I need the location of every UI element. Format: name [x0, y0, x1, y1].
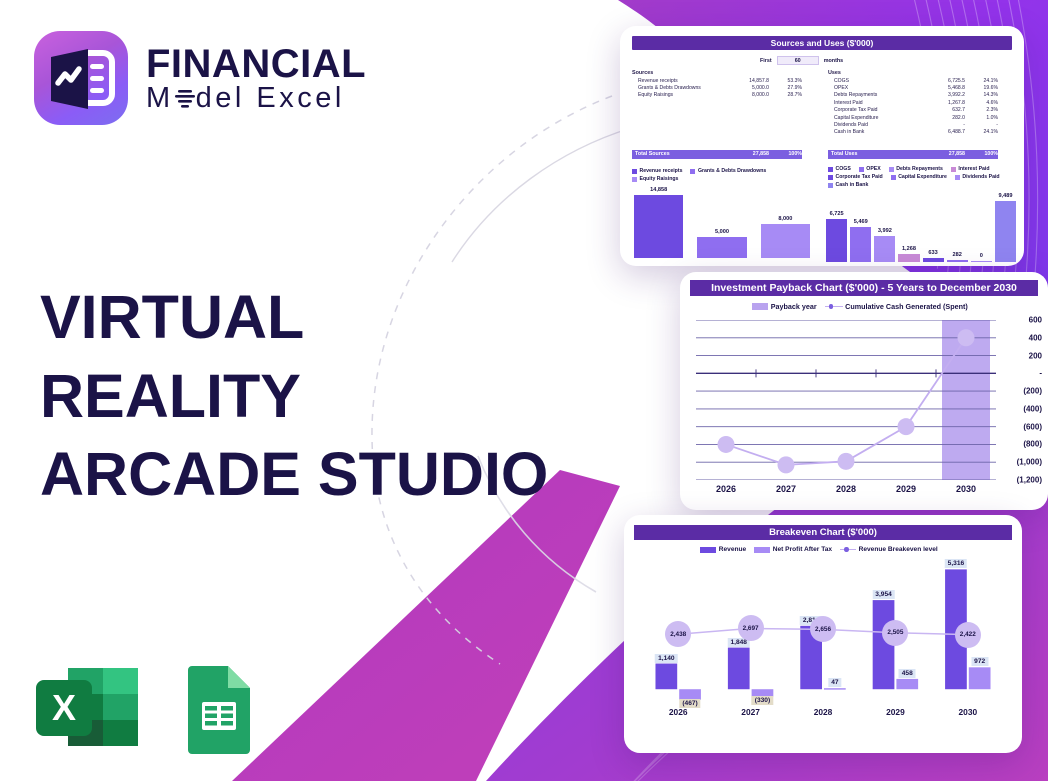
uses-row: Dividends Paid-- [828, 122, 998, 129]
data-point [898, 418, 915, 435]
legend-swatch [752, 303, 768, 310]
financial-model-logo-icon [34, 31, 128, 125]
uses-chart-value-label: 0 [980, 253, 983, 259]
x-axis-tick-label: 2026 [642, 707, 714, 717]
y-axis-tick-label: (400) [1023, 404, 1042, 413]
breakeven-x-axis-labels: 20262027202820292030 [642, 707, 1004, 717]
uses-chart-value-label: 3,992 [878, 228, 892, 234]
legend-net-profit: Net Profit After Tax [754, 546, 832, 553]
uses-row: OPEX5,468.819.6% [828, 85, 998, 92]
period-months-input[interactable]: 60 [777, 56, 819, 65]
uses-row: Interest Paid1,267.84.6% [828, 100, 998, 107]
legend-label: Corporate Tax Paid [836, 174, 883, 180]
sources-table: Sources Revenue receipts14,857.853.3%Gra… [632, 70, 802, 100]
uses-row-value: 282.0 [923, 115, 965, 122]
breakeven-legend: Revenue Net Profit After Tax Revenue Bre… [624, 546, 1022, 555]
uses-row: Cash in Bank6,488.724.1% [828, 129, 998, 136]
uses-chart-column: 9,489 [995, 184, 1016, 262]
legend-swatch [955, 175, 960, 180]
uses-row-label: Capital Expenditure [828, 115, 923, 122]
x-axis-tick-label: 2030 [932, 707, 1004, 717]
net-profit-value-label: (330) [752, 696, 773, 705]
legend-payback-year: Payback year [752, 302, 816, 311]
cumulative-cash-line [726, 338, 966, 465]
uses-legend-item: COGS [828, 166, 851, 172]
uses-row: Capital Expenditure282.01.0% [828, 115, 998, 122]
uses-row-pct: 24.1% [965, 129, 998, 136]
sources-total-value: 27,858 [727, 150, 769, 159]
x-axis-tick-label: 2027 [714, 707, 786, 717]
sources-chart-value-label: 5,000 [715, 229, 729, 235]
uses-chart-value-label: 5,469 [854, 219, 868, 225]
sources-row-pct: 27.9% [769, 85, 802, 92]
y-axis-tick-label: 200 [1029, 351, 1042, 360]
uses-row-pct: 2.3% [965, 107, 998, 114]
excel-icon: X [28, 660, 146, 765]
sources-chart-column: 8,000 [761, 182, 810, 258]
y-axis-tick-label: (1,200) [1017, 476, 1042, 485]
uses-total-label: Total Uses [828, 150, 923, 159]
brand-wordmark: FINANCIAL M del Excel [146, 44, 366, 113]
payback-chart-svg [696, 320, 996, 480]
uses-row-pct: 24.1% [965, 78, 998, 85]
sources-legend-item: Revenue receipts [632, 168, 682, 174]
uses-row-label: OPEX [828, 85, 923, 92]
legend-swatch [828, 167, 833, 172]
uses-chart-column: 6,725 [826, 184, 847, 262]
page-title: VIRTUAL REALITY ARCADE STUDIO [40, 278, 548, 514]
uses-chart-bar [898, 254, 919, 262]
x-axis-tick-label: 2026 [696, 484, 756, 494]
uses-legend-item: Interest Paid [951, 166, 990, 172]
breakeven-title: Breakeven Chart ($'000) [634, 525, 1012, 540]
x-axis-tick-label: 2028 [816, 484, 876, 494]
revenue-bar [728, 648, 750, 690]
brand-subtitle-suffix: del Excel [196, 84, 345, 113]
uses-row: COGS6,725.524.1% [828, 78, 998, 85]
uses-row-label: Debts Repayments [828, 92, 923, 99]
brand-logo: FINANCIAL M del Excel [34, 31, 366, 125]
x-axis-tick-label: 2027 [756, 484, 816, 494]
breakeven-point-label: 2,505 [882, 620, 908, 646]
legend-cumulative-cash: Cumulative Cash Generated (Spent) [825, 302, 968, 311]
legend-label: Cumulative Cash Generated (Spent) [845, 302, 968, 311]
revenue-bar [655, 664, 677, 690]
hamburger-o-icon [174, 85, 196, 111]
y-axis-tick-label: (200) [1023, 387, 1042, 396]
legend-label: OPEX [866, 166, 880, 172]
uses-row-pct: 14.3% [965, 92, 998, 99]
y-axis-tick-label: (800) [1023, 440, 1042, 449]
data-point [718, 436, 735, 453]
net-profit-value-label: 458 [899, 669, 916, 678]
uses-row-value: - [923, 122, 965, 129]
file-format-icons: X [28, 660, 258, 765]
legend-label: Revenue Breakeven level [859, 546, 938, 553]
sources-row-pct: 28.7% [769, 92, 802, 99]
sources-row: Equity Raisings8,000.028.7% [632, 92, 802, 99]
uses-chart-bar [947, 260, 968, 262]
uses-row-value: 3,992.2 [923, 92, 965, 99]
headline-line-2: REALITY [40, 357, 548, 436]
sources-uses-title: Sources and Uses ($'000) [632, 36, 1012, 50]
net-profit-bar [969, 667, 991, 689]
payback-legend: Payback year Cumulative Cash Generated (… [680, 302, 1048, 313]
sources-row-label: Grants & Debts Drawdowns [632, 85, 727, 92]
legend-swatch [754, 547, 770, 553]
uses-chart-bar [874, 236, 895, 262]
legend-swatch [828, 175, 833, 180]
uses-chart-bar [995, 201, 1016, 262]
legend-swatch [889, 167, 894, 172]
uses-chart-bar [923, 258, 944, 262]
uses-legend-item: OPEX [859, 166, 881, 172]
data-point [958, 329, 975, 346]
legend-label: COGS [836, 166, 851, 172]
uses-legend-item: Debts Repayments [889, 166, 943, 172]
legend-swatch [690, 169, 695, 174]
breakeven-point-label: 2,697 [738, 615, 764, 641]
uses-chart-value-label: 6,725 [830, 211, 844, 217]
svg-text:X: X [52, 687, 76, 728]
legend-label: Payback year [771, 302, 817, 311]
legend-label: Net Profit After Tax [773, 546, 832, 553]
payback-x-axis-labels: 20262027202820292030 [696, 484, 996, 494]
legend-line-marker [825, 306, 843, 308]
sources-header: Sources [632, 70, 802, 76]
uses-row-pct: 19.6% [965, 85, 998, 92]
x-axis-tick-label: 2029 [859, 707, 931, 717]
uses-row: Debts Repayments3,992.214.3% [828, 92, 998, 99]
revenue-value-label: 1,140 [655, 654, 678, 663]
payback-title: Investment Payback Chart ($'000) - 5 Yea… [690, 280, 1038, 296]
sources-row-value: 14,857.8 [727, 78, 769, 85]
uses-row-pct: - [965, 122, 998, 129]
legend-swatch [700, 547, 716, 553]
brand-subtitle-prefix: M [146, 84, 174, 113]
breakeven-plot-area: 1,140(467)2,4381,848(330)2,6972,814472,6… [642, 563, 1004, 705]
uses-legend-item: Corporate Tax Paid [828, 174, 883, 180]
uses-row-label: COGS [828, 78, 923, 85]
uses-chart-bar [850, 227, 871, 262]
legend-revenue: Revenue [700, 546, 746, 553]
legend-label: Revenue [719, 546, 747, 553]
sources-chart-bar [634, 195, 683, 258]
uses-row-value: 5,468.8 [923, 85, 965, 92]
legend-swatch [632, 177, 637, 182]
uses-chart-bar [826, 219, 847, 263]
uses-chart-column: 5,469 [850, 184, 871, 262]
x-axis-tick-label: 2029 [876, 484, 936, 494]
uses-row: Corporate Tax Paid632.72.3% [828, 107, 998, 114]
uses-total-pct: 100% [965, 150, 998, 159]
uses-row-value: 632.7 [923, 107, 965, 114]
legend-swatch [632, 169, 637, 174]
uses-chart-column: 282 [947, 184, 968, 262]
uses-chart-bar [971, 261, 992, 262]
sources-row: Revenue receipts14,857.853.3% [632, 78, 802, 85]
uses-row-value: 6,488.7 [923, 129, 965, 136]
net-profit-bar [896, 679, 918, 689]
uses-chart-value-label: 9,489 [998, 193, 1012, 199]
legend-label: Interest Paid [958, 166, 989, 172]
revenue-value-label: 5,316 [945, 559, 968, 568]
y-axis-tick-label: (600) [1023, 422, 1042, 431]
brand-title: FINANCIAL [146, 44, 366, 84]
brand-subtitle: M del Excel [146, 84, 366, 113]
legend-breakeven-level: Revenue Breakeven level [840, 546, 938, 553]
uses-chart-value-label: 633 [928, 250, 937, 256]
headline-line-1: VIRTUAL [40, 278, 548, 357]
sources-row-pct: 53.3% [769, 78, 802, 85]
x-axis-tick-label: 2028 [787, 707, 859, 717]
uses-row-value: 6,725.5 [923, 78, 965, 85]
y-axis-tick-label: - [1039, 369, 1042, 378]
sources-row-label: Revenue receipts [632, 78, 727, 85]
breakeven-point-label: 2,422 [955, 622, 981, 648]
uses-row-value: 1,267.8 [923, 100, 965, 107]
legend-label: Revenue receipts [640, 168, 683, 174]
sources-chart-column: 5,000 [697, 182, 746, 258]
uses-table: Uses COGS6,725.524.1%OPEX5,468.819.6%Deb… [828, 70, 998, 137]
legend-label: Dividends Paid [962, 174, 999, 180]
investment-payback-card[interactable]: Investment Payback Chart ($'000) - 5 Yea… [680, 272, 1048, 510]
payback-plot-area [696, 320, 996, 480]
period-selector[interactable]: First 60 months [760, 56, 843, 65]
sources-bar-chart: 14,8585,0008,000 [634, 182, 810, 258]
headline-line-3: ARCADE STUDIO [40, 435, 548, 514]
revenue-value-label: 3,954 [872, 590, 895, 599]
sources-row-label: Equity Raisings [632, 92, 727, 99]
y-axis-tick-label: (1,000) [1017, 458, 1042, 467]
breakeven-point-label: 2,656 [810, 616, 836, 642]
uses-bar-chart: 6,7255,4693,9921,26863328209,489 [826, 184, 1016, 262]
uses-row-label: Dividends Paid [828, 122, 923, 129]
breakeven-point-label: 2,438 [665, 621, 691, 647]
sources-chart-value-label: 8,000 [778, 216, 792, 222]
breakeven-card[interactable]: Breakeven Chart ($'000) Revenue Net Prof… [624, 515, 1022, 753]
sources-total-row: Total Sources 27,858 100% [632, 150, 802, 159]
legend-swatch [891, 175, 896, 180]
sources-row: Grants & Debts Drawdowns5,000.027.9% [632, 85, 802, 92]
net-profit-value-label: 972 [971, 657, 988, 666]
uses-total-row: Total Uses 27,858 100% [828, 150, 998, 159]
sources-chart-column: 14,858 [634, 182, 683, 258]
uses-header: Uses [828, 70, 998, 76]
sources-and-uses-card[interactable]: Sources and Uses ($'000) First 60 months… [620, 26, 1024, 266]
sources-row-value: 8,000.0 [727, 92, 769, 99]
sources-total-label: Total Sources [632, 150, 727, 159]
uses-row-label: Corporate Tax Paid [828, 107, 923, 114]
uses-chart-column: 3,992 [874, 184, 895, 262]
uses-chart-column: 633 [923, 184, 944, 262]
uses-chart-value-label: 282 [953, 252, 962, 258]
legend-label: Capital Expenditure [898, 174, 947, 180]
uses-row-label: Cash in Bank [828, 129, 923, 136]
sources-chart-bar [761, 224, 810, 258]
payback-y-axis-labels: 600400200-(200)(400)(600)(800)(1,000)(1,… [1002, 320, 1046, 480]
sources-legend-item: Grants & Debts Drawdowns [690, 168, 766, 174]
legend-swatch [859, 167, 864, 172]
data-point [778, 456, 795, 473]
uses-chart-column: 0 [971, 184, 992, 262]
uses-legend-item: Capital Expenditure [891, 174, 947, 180]
uses-row-pct: 1.0% [965, 115, 998, 122]
x-axis-tick-label: 2030 [936, 484, 996, 494]
legend-swatch [951, 167, 956, 172]
uses-legend-item: Dividends Paid [955, 174, 1000, 180]
legend-label: Debts Repayments [896, 166, 943, 172]
uses-chart-value-label: 1,268 [902, 246, 916, 252]
net-profit-bar [824, 688, 846, 690]
google-sheets-icon [180, 660, 258, 765]
net-profit-value-label: 47 [828, 678, 841, 687]
sources-chart-value-label: 14,858 [650, 187, 667, 193]
poster-canvas: FINANCIAL M del Excel VIRTUAL REALITY AR… [0, 0, 1048, 781]
period-prefix: First [760, 58, 772, 64]
legend-line-marker [840, 549, 856, 551]
logo-glyph [34, 31, 128, 125]
legend-label: Grants & Debts Drawdowns [698, 168, 766, 174]
sources-total-pct: 100% [769, 150, 802, 159]
uses-total-value: 27,858 [923, 150, 965, 159]
data-point [838, 453, 855, 470]
y-axis-tick-label: 600 [1029, 316, 1042, 325]
y-axis-tick-label: 400 [1029, 333, 1042, 342]
uses-row-label: Interest Paid [828, 100, 923, 107]
uses-chart-column: 1,268 [898, 184, 919, 262]
sources-row-value: 5,000.0 [727, 85, 769, 92]
sources-chart-bar [697, 237, 746, 258]
uses-row-pct: 4.6% [965, 100, 998, 107]
period-suffix: months [824, 58, 843, 64]
